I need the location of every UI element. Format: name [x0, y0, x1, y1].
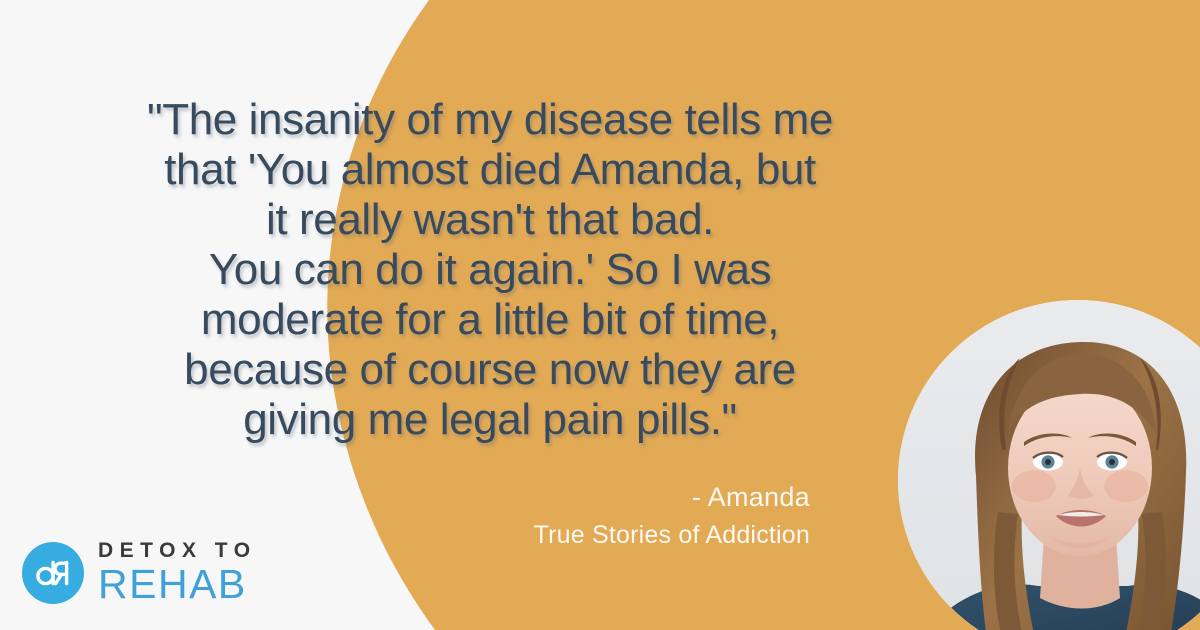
logo-text-rehab: REHAB — [98, 564, 257, 605]
portrait-image — [898, 300, 1200, 630]
brand-logo[interactable]: DETOX TO REHAB — [22, 540, 257, 605]
quote-line: giving me legal pain pills." — [60, 395, 920, 445]
dr-monogram-circle-icon — [22, 542, 84, 604]
quote-line: it really wasn't that bad. — [60, 195, 920, 245]
quote-line: because of course now they are — [60, 345, 920, 395]
attribution-name: - Amanda — [534, 478, 810, 516]
quote-text: "The insanity of my disease tells me tha… — [60, 95, 920, 445]
portrait-white-ring — [898, 300, 1200, 630]
quote-line: You can do it again.' So I was — [60, 245, 920, 295]
quote-line: "The insanity of my disease tells me — [60, 95, 920, 145]
quote-line: moderate for a little bit of time, — [60, 295, 920, 345]
logo-text-detox-to: DETOX TO — [98, 540, 257, 561]
portrait-photo — [898, 300, 1200, 630]
logo-wordmark: DETOX TO REHAB — [98, 540, 257, 605]
quote-line: that 'You almost died Amanda, but — [60, 145, 920, 195]
attribution: - Amanda True Stories of Addiction — [534, 478, 810, 554]
quote-card: "The insanity of my disease tells me tha… — [0, 0, 1200, 630]
attribution-series: True Stories of Addiction — [534, 516, 810, 554]
